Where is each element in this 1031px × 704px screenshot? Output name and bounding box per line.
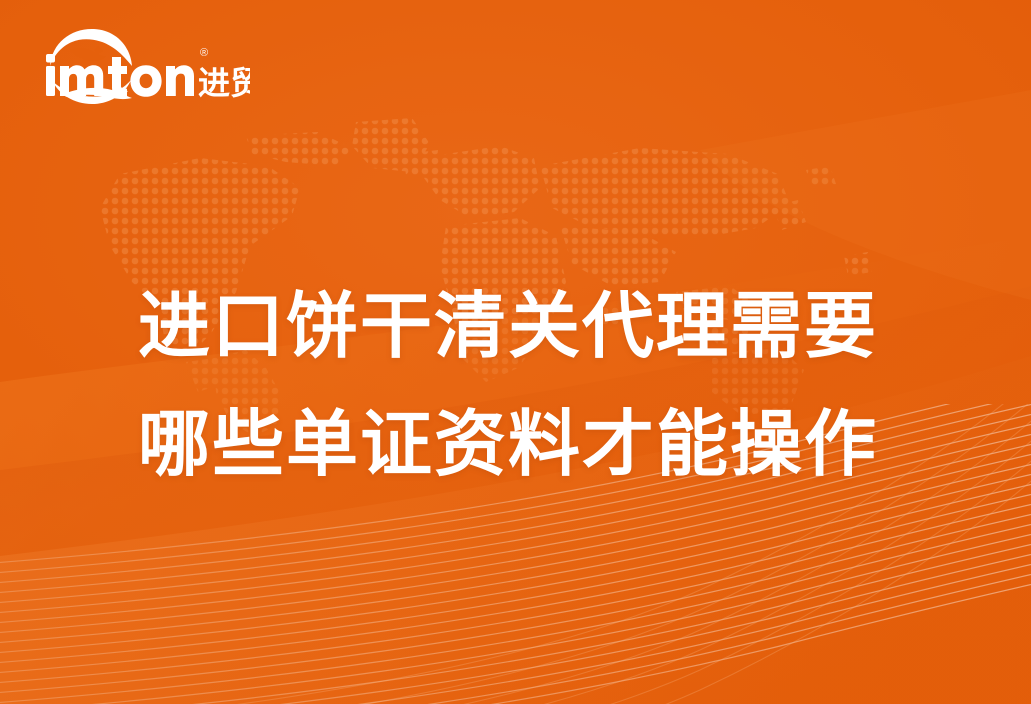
- logo-latin-text: [46, 54, 194, 97]
- trademark-icon: ®: [200, 47, 208, 59]
- logo-chinese-text: 进贸通: [198, 65, 250, 101]
- poster-canvas: 进贸通 ® 进口饼干清关代理需要 哪些单证资料才能操作: [0, 0, 1031, 704]
- headline-line-2: 哪些单证资料才能操作: [138, 386, 958, 504]
- brand-logo[interactable]: 进贸通 ®: [40, 26, 250, 110]
- headline-line-1: 进口饼干清关代理需要: [138, 268, 958, 386]
- headline-block: 进口饼干清关代理需要 哪些单证资料才能操作: [138, 268, 958, 504]
